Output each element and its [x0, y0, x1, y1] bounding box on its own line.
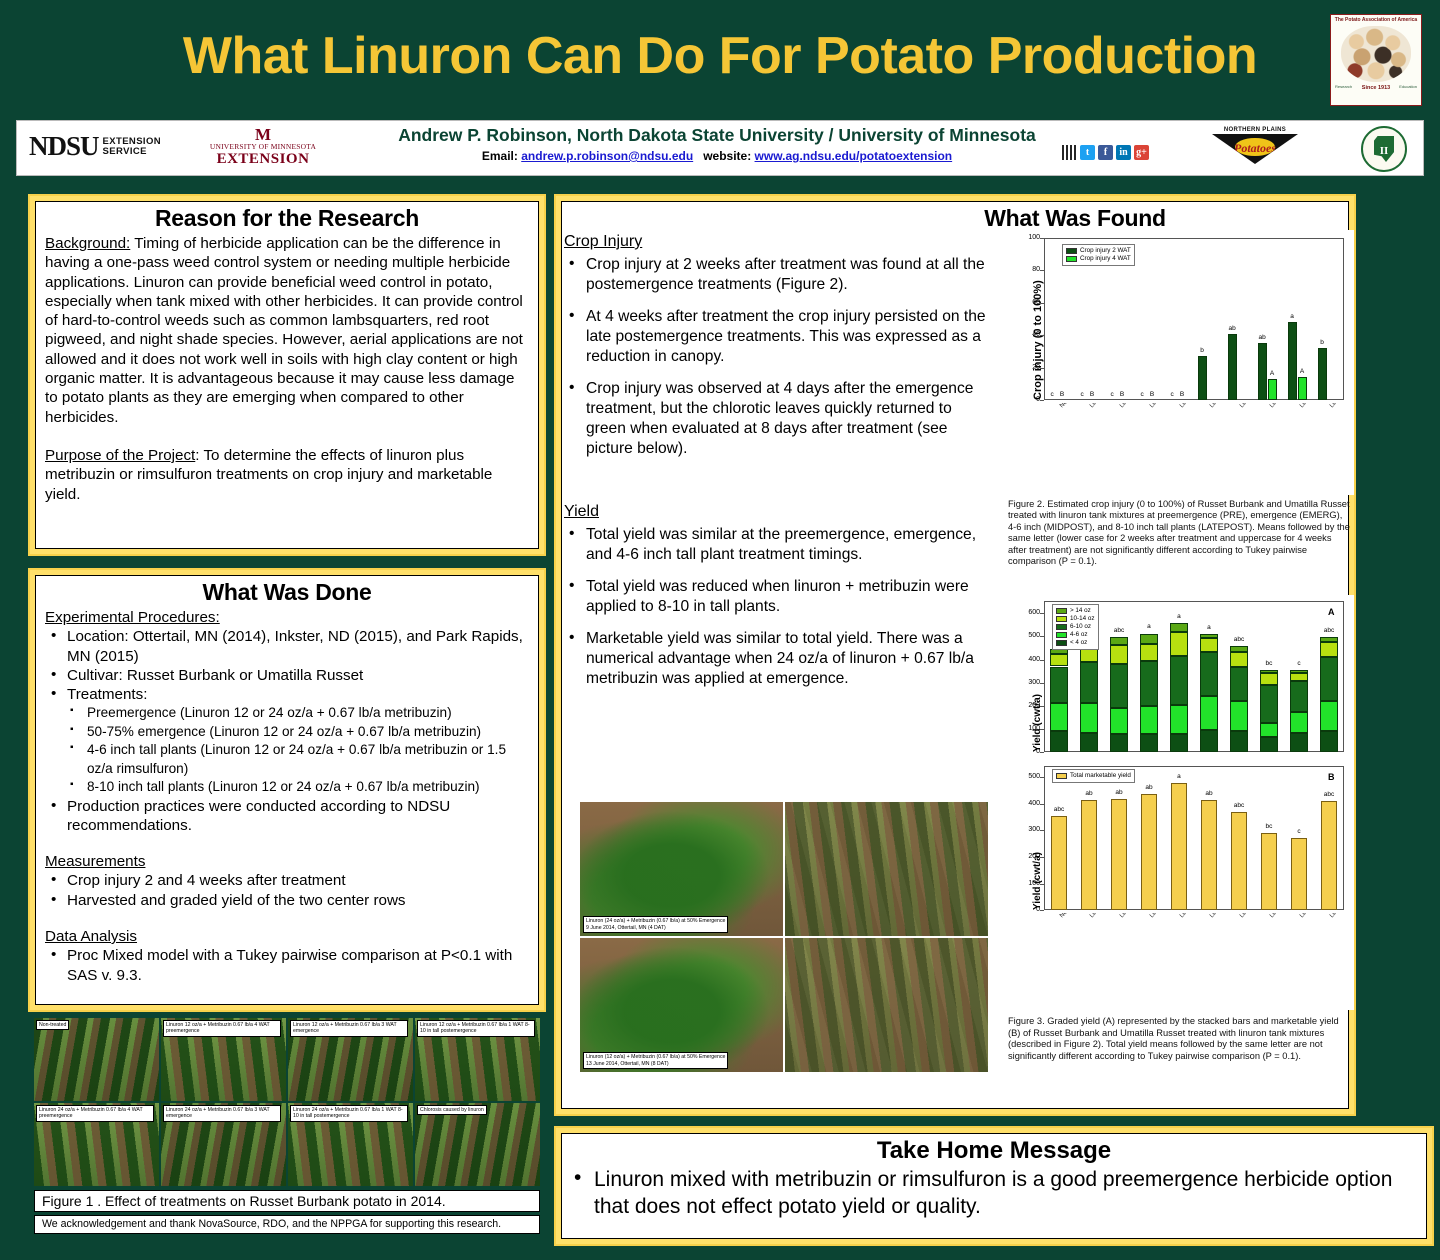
- figure-2-crop-injury-y-tick: 80: [1020, 266, 1040, 273]
- bar: [1081, 800, 1098, 910]
- significance-letter: ab: [1195, 790, 1224, 797]
- yield-heading: Yield: [564, 503, 996, 521]
- legend-entry: Crop injury 2 WAT: [1066, 247, 1131, 255]
- bar: [1288, 322, 1297, 400]
- stacked-bar-segment: [1200, 638, 1219, 652]
- author-info-bar: NDSU EXTENSION SERVICE M UNIVERSITY OF M…: [16, 120, 1424, 176]
- social-icon-row: t f in g+: [1062, 145, 1149, 160]
- data-analysis-list: Proc Mixed model with a Tukey pairwise c…: [45, 946, 529, 985]
- figure-2-crop-injury-y-tick-mark: [1040, 368, 1044, 369]
- photo-caption: Linuron 24 oz/a + Metribuzin 0.67 lb/a 4…: [36, 1105, 154, 1122]
- legend-entry: 6-10 oz: [1056, 623, 1095, 631]
- figure-3a-graded-yield-y-tick-mark: [1040, 660, 1044, 661]
- photo-tile: [785, 802, 988, 936]
- stacked-bar-segment: [1230, 667, 1249, 701]
- paa-logo-top-text: The Potato Association of America: [1331, 17, 1421, 23]
- list-item: Crop injury at 2 weeks after treatment w…: [564, 255, 986, 295]
- photo-caption: Chlorosis caused by linuron: [417, 1105, 487, 1115]
- data-analysis-label: Data Analysis: [45, 928, 137, 945]
- x-axis-tick-label: Linuron 12 oz/a + Metribuzin 0.67 lb/a P…: [1089, 403, 1174, 409]
- procedures-bullet-list: Location: Ottertail, MN (2014), Inkster,…: [45, 627, 529, 704]
- figure-3a-graded-yield-y-tick-mark: [1040, 729, 1044, 730]
- linkedin-icon[interactable]: in: [1116, 145, 1131, 160]
- list-item: Cultivar: Russet Burbank or Umatilla Rus…: [45, 666, 529, 685]
- umn-m-mark: M: [203, 127, 323, 142]
- figure-2-crop-injury-y-tick-mark: [1040, 303, 1044, 304]
- photo-tile: Linuron 24 oz/a + Metribuzin 0.67 lb/a 1…: [288, 1103, 413, 1186]
- stacked-bar-segment: [1080, 733, 1099, 752]
- stacked-bar-segment: [1230, 701, 1249, 730]
- stacked-bar-segment: [1050, 654, 1069, 667]
- done-inner: What Was Done Experimental Procedures: L…: [35, 575, 539, 1005]
- figure-2-caption: Figure 2. Estimated crop injury (0 to 10…: [1004, 499, 1349, 567]
- significance-letter: c: [1284, 660, 1315, 667]
- figure-3b-marketable-yield-y-tick-mark: [1040, 777, 1044, 778]
- significance-letter: ab: [1075, 790, 1104, 797]
- x-axis-tick-label: Linuron 12 oz/a + Metribuzin 0.67 lb/a M…: [1209, 913, 1305, 919]
- significance-letter: B: [1143, 391, 1162, 398]
- legend-label: Total marketable yield: [1070, 772, 1131, 780]
- bar: [1111, 799, 1128, 910]
- treatments-sub-list: Preemergence (Linuron 12 or 24 oz/a + 0.…: [45, 704, 529, 796]
- stacked-bar-segment: [1110, 664, 1129, 707]
- significance-letter: c: [1285, 828, 1314, 835]
- stacked-bar-segment: [1260, 723, 1279, 737]
- stacked-bar-segment: [1200, 652, 1219, 697]
- northern-plains-potato-logo: NORTHERN PLAINS Potatoes: [1205, 127, 1305, 171]
- stacked-bar-segment: [1200, 696, 1219, 729]
- photo-caption: Linuron 12 oz/a + Metribuzin 0.67 lb/a 4…: [163, 1020, 281, 1037]
- stacked-bar-segment: [1320, 637, 1339, 642]
- significance-letter: a: [1165, 773, 1194, 780]
- stacked-bar-segment: [1050, 667, 1069, 704]
- stacked-bar-segment: [1170, 656, 1189, 705]
- list-item: Production practices were conducted acco…: [45, 797, 529, 836]
- stacked-bar-segment: [1290, 681, 1309, 711]
- bar: [1321, 801, 1338, 910]
- stacked-bar-segment: [1320, 731, 1339, 752]
- photo-tile: Linuron 24 oz/a + Metribuzin 0.67 lb/a 3…: [161, 1103, 286, 1186]
- stacked-bar-segment: [1200, 634, 1219, 638]
- significance-letter: a: [1194, 624, 1225, 631]
- list-item: At 4 weeks after treatment the crop inju…: [564, 307, 986, 367]
- significance-letter: b: [1313, 339, 1332, 346]
- legend-swatch: [1056, 624, 1067, 630]
- bar: [1198, 356, 1207, 400]
- google-plus-icon[interactable]: g+: [1134, 145, 1149, 160]
- bar: [1268, 379, 1277, 400]
- significance-letter: ab: [1223, 325, 1242, 332]
- significance-letter: B: [1113, 391, 1132, 398]
- legend-swatch: [1066, 248, 1077, 254]
- significance-letter: ab: [1135, 784, 1164, 791]
- legend-label: Crop injury 2 WAT: [1080, 247, 1131, 255]
- figure-3b-chart: Yield (cwt/a)0100200300400500abcabababaa…: [1004, 760, 1349, 1010]
- stacked-bar-segment: [1260, 673, 1279, 685]
- x-axis-tick-label: Linuron 24 oz/a + Metribuzin 0.67 lb/a P…: [1119, 913, 1204, 919]
- legend-label: Crop injury 4 WAT: [1080, 255, 1131, 263]
- significance-letter: a: [1164, 613, 1195, 620]
- measurements-list: Crop injury 2 and 4 weeks after treatmen…: [45, 871, 529, 910]
- background-label: Background:: [45, 235, 130, 252]
- significance-letter: ab: [1253, 334, 1272, 341]
- stacked-bar-segment: [1320, 701, 1339, 731]
- page-title: What Linuron Can Do For Potato Productio…: [0, 26, 1440, 86]
- significance-letter: B: [1083, 391, 1102, 398]
- photo-tile: Linuron 12 oz/a + Metribuzin 0.67 lb/a 1…: [415, 1018, 540, 1101]
- take-home-inner: Take Home Message Linuron mixed with met…: [561, 1133, 1427, 1239]
- ndsu-extension-line2: SERVICE: [103, 147, 162, 157]
- figure-3b-marketable-yield-legend: Total marketable yield: [1052, 769, 1135, 783]
- stacked-bar-segment: [1140, 706, 1159, 735]
- x-axis-tick-label: Linuron 12 oz/a + Metribuzin 0.67 lb/a E…: [1149, 403, 1241, 409]
- significance-letter: bc: [1254, 660, 1285, 667]
- figure-3b-marketable-yield-y-tick: 100: [1020, 880, 1040, 887]
- x-axis-tick-label: Linuron 24 oz/a + Metribuzin 0.67 lb/a E…: [1179, 403, 1271, 409]
- bar: [1318, 348, 1327, 400]
- figure-3a-chart: Yield (cwt/a)0100200300400500600abcabcab…: [1004, 595, 1349, 760]
- significance-letter: A: [1293, 368, 1312, 375]
- figure-2-crop-injury-y-tick: 20: [1020, 364, 1040, 371]
- photo-tile: Non-treated: [34, 1018, 159, 1101]
- crop-injury-heading: Crop Injury: [564, 233, 996, 251]
- list-item: Total yield was reduced when linuron + m…: [564, 577, 986, 617]
- contact-line: Email: andrew.p.robinson@ndsu.edu websit…: [337, 149, 1097, 163]
- stacked-bar-segment: [1140, 661, 1159, 705]
- found-title: What Was Found: [802, 205, 1348, 232]
- reason-inner: Reason for the Research Background: Timi…: [35, 201, 539, 549]
- list-item: Crop injury 2 and 4 weeks after treatmen…: [45, 871, 529, 890]
- x-axis-tick-label: Linuron 24 oz/a + Metribuzin 0.67 lb/a M…: [1239, 403, 1335, 409]
- list-item: 50-75% emergence (Linuron 12 or 24 oz/a …: [67, 723, 529, 741]
- bar: [1171, 783, 1188, 910]
- legend-swatch: [1056, 616, 1067, 622]
- photo-caption: Linuron (24 oz/a) + Metribuzin (0.67 lb/…: [583, 916, 728, 933]
- figure-3a-graded-yield-y-tick: 600: [1020, 609, 1040, 616]
- email-label: Email:: [482, 149, 518, 163]
- figure-3a-graded-yield-y-tick-mark: [1040, 636, 1044, 637]
- legend-label: < 4 oz: [1070, 639, 1087, 647]
- list-item: Location: Ottertail, MN (2014), Inkster,…: [45, 627, 529, 666]
- bar: [1201, 800, 1218, 910]
- figure-2-crop-injury-legend: Crop injury 2 WATCrop injury 4 WAT: [1062, 244, 1135, 266]
- figure-3a-graded-yield-panel-letter: A: [1328, 607, 1335, 617]
- stacked-bar-segment: [1320, 657, 1339, 701]
- found-inner: What Was Found Crop Injury Crop injury a…: [561, 201, 1349, 1109]
- legend-entry: 10-14 oz: [1056, 615, 1095, 623]
- figure-3b-marketable-yield-y-tick: 200: [1020, 853, 1040, 860]
- photo-caption: Linuron 24 oz/a + Metribuzin 0.67 lb/a 1…: [290, 1105, 408, 1122]
- npp-top-text: NORTHERN PLAINS: [1205, 127, 1305, 133]
- stacked-bar-segment: [1110, 637, 1129, 644]
- significance-letter: abc: [1104, 627, 1135, 634]
- legend-swatch: [1056, 773, 1067, 779]
- bar: [1298, 377, 1307, 400]
- figure-3b-marketable-yield-y-tick: 500: [1020, 773, 1040, 780]
- figure-3b-marketable-yield-y-tick-mark: [1040, 804, 1044, 805]
- take-home-title: Take Home Message: [562, 1137, 1426, 1165]
- significance-letter: b: [1193, 347, 1212, 354]
- legend-swatch: [1056, 640, 1067, 646]
- figure-3a-graded-yield-y-tick: 400: [1020, 656, 1040, 663]
- stacked-bar-segment: [1170, 705, 1189, 734]
- stacked-bar-segment: [1110, 734, 1129, 753]
- bar: [1231, 812, 1248, 910]
- x-axis-tick-label: Linuron 12 oz/a + Metribuzin 0.67 lb/a E…: [1149, 913, 1241, 919]
- website-link[interactable]: www.ag.ndsu.edu/potatoextension: [755, 149, 953, 163]
- legend-entry: Crop injury 4 WAT: [1066, 255, 1131, 263]
- significance-letter: ab: [1105, 789, 1134, 796]
- legend-label: 6-10 oz: [1070, 623, 1091, 631]
- legend-swatch: [1056, 608, 1067, 614]
- stacked-bar-segment: [1170, 623, 1189, 631]
- significance-letter: a: [1283, 313, 1302, 320]
- significance-letter: a: [1134, 623, 1165, 630]
- crop-injury-bullets: Crop injury at 2 weeks after treatment w…: [561, 255, 996, 459]
- bar: [1261, 833, 1278, 911]
- stacked-bar-segment: [1050, 703, 1069, 731]
- photo-caption: Linuron (12 oz/a) + Metribuzin (0.67 lb/…: [583, 1052, 728, 1069]
- significance-letter: B: [1053, 391, 1072, 398]
- photo-tile: Linuron 12 oz/a + Metribuzin 0.67 lb/a 4…: [161, 1018, 286, 1101]
- figure-3a-graded-yield-y-tick: 300: [1020, 679, 1040, 686]
- website-label: website:: [703, 149, 751, 163]
- legend-entry: 4-6 oz: [1056, 631, 1095, 639]
- list-item: Crop injury was observed at 4 days after…: [564, 379, 986, 459]
- stacked-bar-segment: [1140, 634, 1159, 644]
- potato-pile-icon: [1341, 26, 1411, 82]
- significance-letter: abc: [1225, 802, 1254, 809]
- umn-extension-word: EXTENSION: [203, 151, 323, 168]
- stacked-bar-segment: [1230, 731, 1249, 753]
- figure-3b-marketable-yield-y-tick: 400: [1020, 800, 1040, 807]
- figure-3a-graded-yield-y-tick: 100: [1020, 725, 1040, 732]
- x-axis-tick-label: Linuron 24 oz/a + Metribuzin 0.67 lb/a P…: [1119, 403, 1204, 409]
- take-home-bullet: Linuron mixed with metribuzin or rimsulf…: [562, 1166, 1426, 1220]
- x-axis-tick-label: Linuron 24 oz/a + Metribuzin 0.67 lb/a L…: [1299, 913, 1349, 919]
- figure-2-crop-injury-y-tick: 100: [1020, 234, 1040, 241]
- stacked-bar-segment: [1260, 737, 1279, 752]
- stacked-bar-segment: [1230, 646, 1249, 652]
- x-axis-tick-label: Non-treated: [1059, 403, 1086, 409]
- legend-label: 4-6 oz: [1070, 631, 1088, 639]
- found-text-column: Crop Injury Crop injury at 2 weeks after…: [561, 230, 996, 701]
- umn-name: UNIVERSITY OF MINNESOTA: [203, 142, 323, 151]
- stacked-bar-segment: [1080, 662, 1099, 703]
- figure-2-crop-injury-y-tick-mark: [1040, 335, 1044, 336]
- figure-3a-graded-yield-y-tick: 200: [1020, 702, 1040, 709]
- procedures-label: Experimental Procedures:: [45, 609, 220, 626]
- figure-3a-graded-yield-y-tick-mark: [1040, 683, 1044, 684]
- found-figures-column: Crop injury (0 to 100%)020406080100cBcBc…: [1004, 230, 1349, 1062]
- figure-3a-graded-yield-y-tick-mark: [1040, 613, 1044, 614]
- purpose-label: Purpose of the Project: [45, 447, 195, 464]
- qr-code-icon[interactable]: [1062, 145, 1077, 160]
- stacked-bar-segment: [1170, 632, 1189, 656]
- figure-2-crop-injury-y-tick-mark: [1040, 270, 1044, 271]
- photo-tile: Linuron 24 oz/a + Metribuzin 0.67 lb/a 4…: [34, 1103, 159, 1186]
- twitter-icon[interactable]: t: [1080, 145, 1095, 160]
- yield-bullets: Total yield was similar at the preemerge…: [561, 525, 996, 689]
- list-item: Treatments:: [45, 685, 529, 704]
- figure-2-crop-injury-y-tick-mark: [1040, 238, 1044, 239]
- stacked-bar-segment: [1140, 734, 1159, 752]
- panel-reason-for-research: Reason for the Research Background: Timi…: [28, 194, 546, 556]
- bar: [1291, 838, 1308, 910]
- significance-letter: bc: [1255, 823, 1284, 830]
- bar: [1141, 794, 1158, 910]
- email-link[interactable]: andrew.p.robinson@ndsu.edu: [521, 149, 693, 163]
- reason-background-paragraph: Background: Timing of herbicide applicat…: [36, 234, 538, 427]
- figure-1-photo-grid: Non-treated Linuron 12 oz/a + Metribuzin…: [34, 1018, 540, 1186]
- figure-3b-marketable-yield-panel-letter: B: [1328, 772, 1335, 782]
- stacked-bar-segment: [1110, 645, 1129, 665]
- panel-what-was-found: What Was Found Crop Injury Crop injury a…: [554, 194, 1356, 1116]
- figure-3b-marketable-yield-y-tick-mark: [1040, 910, 1044, 911]
- umn-extension-logo: M UNIVERSITY OF MINNESOTA EXTENSION: [203, 127, 323, 168]
- list-item: 8-10 inch tall plants (Linuron 12 or 24 …: [67, 778, 529, 796]
- x-axis-tick-label: Linuron 24 oz/a + Rimsulfuron 1.5 oz/a M…: [1329, 403, 1349, 409]
- x-axis-tick-label: Linuron 24 oz/a + Metribuzin 0.67 lb/a L…: [1299, 403, 1349, 409]
- significance-letter: abc: [1314, 627, 1345, 634]
- list-item: 4-6 inch tall plants (Linuron 12 or 24 o…: [67, 741, 529, 778]
- ndsu-extension-logo: NDSU EXTENSION SERVICE: [29, 131, 161, 162]
- legend-swatch: [1056, 632, 1067, 638]
- stacked-bar-segment: [1290, 712, 1309, 733]
- figure-2-crop-injury-y-tick-mark: [1040, 400, 1044, 401]
- reason-purpose-paragraph: Purpose of the Project: To determine the…: [36, 446, 538, 504]
- author-block: Andrew P. Robinson, North Dakota State U…: [337, 125, 1097, 163]
- npp-triangle-icon: Potatoes: [1212, 134, 1298, 164]
- author-name-affiliation: Andrew P. Robinson, North Dakota State U…: [337, 125, 1097, 146]
- figure-2-crop-injury-y-tick: 40: [1020, 331, 1040, 338]
- figure-3a-graded-yield-y-tick: 0: [1020, 748, 1040, 755]
- facebook-icon[interactable]: f: [1098, 145, 1113, 160]
- bar: [1051, 816, 1068, 911]
- legend-label: 10-14 oz: [1070, 615, 1095, 623]
- x-axis-tick-label: Linuron 24 oz/a + Rimsulfuron 1.5 oz/a M…: [1329, 913, 1349, 919]
- stacked-bar-segment: [1290, 673, 1309, 682]
- figure-3b-marketable-yield-y-tick-mark: [1040, 857, 1044, 858]
- stacked-bar-segment: [1050, 731, 1069, 753]
- potato-association-logo: The Potato Association of America Since …: [1330, 14, 1422, 106]
- emergence-photo-collage: Linuron (24 oz/a) + Metribuzin (0.67 lb/…: [580, 802, 988, 1072]
- mn-seal-text: II: [1380, 145, 1389, 157]
- stacked-bar-segment: [1290, 670, 1309, 672]
- significance-letter: B: [1173, 391, 1192, 398]
- figure-2-chart: Crop injury (0 to 100%)020406080100cBcBc…: [1004, 230, 1349, 495]
- list-item: Total yield was similar at the preemerge…: [564, 525, 986, 565]
- figure-2-crop-injury-y-tick: 0: [1020, 396, 1040, 403]
- stacked-bar-segment: [1260, 670, 1279, 673]
- figure-2-crop-injury-x-axis-labels: Non-treatedLinuron 12 oz/a + Metribuzin …: [1004, 403, 1349, 494]
- panel-what-was-done: What Was Done Experimental Procedures: L…: [28, 568, 546, 1012]
- figure-3b-marketable-yield-y-tick: 0: [1020, 906, 1040, 913]
- poster-root: What Linuron Can Do For Potato Productio…: [0, 0, 1440, 1260]
- stacked-bar-segment: [1230, 652, 1249, 667]
- x-axis-tick-label: Linuron 12 oz/a + Metribuzin 0.67 lb/a P…: [1089, 913, 1174, 919]
- acknowledgement-text: We acknowledgement and thank NovaSource,…: [34, 1215, 540, 1234]
- photo-tile: [785, 938, 988, 1072]
- photo-tile: Linuron (24 oz/a) + Metribuzin (0.67 lb/…: [580, 802, 783, 936]
- photo-caption: Non-treated: [36, 1020, 69, 1030]
- ndsu-extension-line1: EXTENSION: [103, 137, 162, 147]
- figure-3a-graded-yield-y-tick-mark: [1040, 706, 1044, 707]
- significance-letter: abc: [1224, 636, 1255, 643]
- significance-letter: A: [1263, 370, 1282, 377]
- significance-letter: abc: [1315, 791, 1344, 798]
- photo-tile: Chlorosis caused by linuron: [415, 1103, 540, 1186]
- stacked-bar-segment: [1260, 685, 1279, 723]
- done-title: What Was Done: [36, 579, 538, 606]
- legend-entry: Total marketable yield: [1056, 772, 1131, 780]
- figure-1-caption: Figure 1 . Effect of treatments on Russe…: [34, 1190, 540, 1212]
- photo-caption: Linuron 12 oz/a + Metribuzin 0.67 lb/a 3…: [290, 1020, 408, 1037]
- paa-education-label: Education: [1399, 84, 1417, 89]
- figure-3-caption: Figure 3. Graded yield (A) represented b…: [1004, 1016, 1349, 1062]
- figure-3b-marketable-yield-y-tick: 300: [1020, 826, 1040, 833]
- photo-tile: Linuron (12 oz/a) + Metribuzin (0.67 lb/…: [580, 938, 783, 1072]
- figure-3a-graded-yield-y-tick: 500: [1020, 632, 1040, 639]
- figure-3b-marketable-yield-y-tick-mark: [1040, 884, 1044, 885]
- significance-letter: abc: [1045, 806, 1074, 813]
- x-axis-tick-label: Linuron 24 oz/a + Metribuzin 0.67 lb/a M…: [1239, 913, 1335, 919]
- stacked-bar-segment: [1080, 703, 1099, 733]
- figure-3b-marketable-yield-y-tick-mark: [1040, 830, 1044, 831]
- background-text: Timing of herbicide application can be t…: [45, 235, 523, 426]
- list-item: Preemergence (Linuron 12 or 24 oz/a + 0.…: [67, 704, 529, 722]
- legend-swatch: [1066, 256, 1077, 262]
- figure-2-crop-injury-y-tick: 60: [1020, 299, 1040, 306]
- procedures-bullet-list-cont: Production practices were conducted acco…: [45, 797, 529, 836]
- list-item: Harvested and graded yield of the two ce…: [45, 891, 529, 910]
- stacked-bar-segment: [1170, 734, 1189, 753]
- header-band: What Linuron Can Do For Potato Productio…: [0, 0, 1440, 118]
- legend-label: > 14 oz: [1070, 607, 1091, 615]
- ndsu-wordmark: NDSU: [29, 131, 99, 162]
- bar: [1228, 334, 1237, 400]
- x-axis-tick-label: Linuron 12 oz/a + Metribuzin 0.67 lb/a M…: [1209, 403, 1305, 409]
- photo-caption: Linuron 24 oz/a + Metribuzin 0.67 lb/a 3…: [163, 1105, 281, 1122]
- stacked-bar-segment: [1200, 730, 1219, 753]
- photo-tile: Linuron 12 oz/a + Metribuzin 0.67 lb/a 3…: [288, 1018, 413, 1101]
- npp-wordmark: Potatoes: [1234, 141, 1276, 156]
- stacked-bar-segment: [1320, 642, 1339, 656]
- list-item: Marketable yield was similar to total yi…: [564, 629, 986, 689]
- x-axis-tick-label: Non-treated: [1059, 913, 1086, 919]
- paa-research-label: Research: [1335, 84, 1352, 89]
- x-axis-tick-label: Linuron 24 oz/a + Metribuzin 0.67 lb/a E…: [1179, 913, 1271, 919]
- list-item: Proc Mixed model with a Tukey pairwise c…: [45, 946, 529, 985]
- photo-caption: Linuron 12 oz/a + Metribuzin 0.67 lb/a 1…: [417, 1020, 535, 1037]
- stacked-bar-segment: [1290, 733, 1309, 753]
- minnesota-seal-logo: II: [1361, 126, 1407, 172]
- figure-3a-graded-yield-legend: > 14 oz10-14 oz6-10 oz4-6 oz< 4 oz: [1052, 604, 1099, 650]
- stacked-bar-segment: [1140, 644, 1159, 661]
- measurements-label: Measurements: [45, 853, 145, 870]
- legend-entry: < 4 oz: [1056, 639, 1095, 647]
- figure-3a-graded-yield-y-tick-mark: [1040, 752, 1044, 753]
- panel-take-home-message: Take Home Message Linuron mixed with met…: [554, 1126, 1434, 1246]
- stacked-bar-segment: [1110, 708, 1129, 734]
- legend-entry: > 14 oz: [1056, 607, 1095, 615]
- figure-3b-marketable-yield-x-axis-labels: Non-treatedLinuron 12 oz/a + Metribuzin …: [1004, 913, 1349, 1009]
- reason-title: Reason for the Research: [36, 205, 538, 232]
